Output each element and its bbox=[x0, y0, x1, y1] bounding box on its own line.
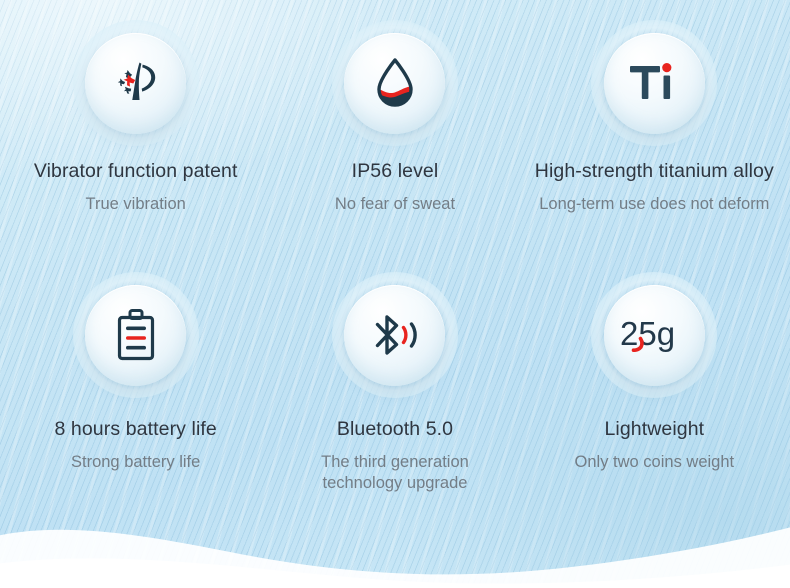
feature-card-ip56-level[interactable]: IP56 level No fear of sweat bbox=[265, 18, 524, 270]
feature-card-bluetooth[interactable]: Bluetooth 5.0 The third generation techn… bbox=[265, 270, 524, 588]
bluetooth-icon bbox=[365, 307, 425, 363]
feature-card-titanium-alloy[interactable]: High-strength titanium alloy Long-term u… bbox=[525, 18, 784, 270]
svg-text:25g: 25g bbox=[620, 315, 675, 352]
badge-wrapper bbox=[71, 270, 201, 400]
feature-title: High-strength titanium alloy bbox=[535, 160, 774, 183]
feature-card-battery-life[interactable]: 8 hours battery life Strong battery life bbox=[6, 270, 265, 588]
badge-circle bbox=[85, 33, 186, 134]
badge-circle: 25g bbox=[604, 285, 705, 386]
water-drop-icon bbox=[371, 55, 419, 111]
feature-card-lightweight[interactable]: 25g Lightweight Only two coins weight bbox=[525, 270, 784, 588]
feature-subtitle: Long-term use does not deform bbox=[539, 194, 769, 215]
badge-wrapper bbox=[71, 18, 201, 148]
feature-title: IP56 level bbox=[352, 160, 439, 183]
battery-icon bbox=[113, 307, 159, 363]
feature-title: Bluetooth 5.0 bbox=[337, 418, 453, 441]
feature-title: Lightweight bbox=[604, 418, 704, 441]
feature-subtitle: True vibration bbox=[86, 194, 186, 215]
badge-circle bbox=[344, 33, 445, 134]
badge-wrapper bbox=[589, 18, 719, 148]
feature-subtitle: The third generation technology upgrade bbox=[321, 452, 469, 495]
weight-25g-icon: 25g bbox=[617, 312, 691, 358]
feature-subtitle: Only two coins weight bbox=[575, 452, 735, 473]
feature-subtitle: Strong battery life bbox=[71, 452, 200, 473]
feature-subtitle: No fear of sweat bbox=[335, 194, 455, 215]
features-grid: Vibrator function patent True vibration bbox=[0, 0, 790, 588]
feature-card-vibrator-patent[interactable]: Vibrator function patent True vibration bbox=[6, 18, 265, 270]
badge-wrapper bbox=[330, 270, 460, 400]
feature-grid-page: Vibrator function patent True vibration bbox=[0, 0, 790, 588]
titanium-ti-icon bbox=[625, 56, 683, 110]
patent-logo-icon bbox=[108, 55, 164, 111]
feature-title: Vibrator function patent bbox=[34, 160, 238, 183]
feature-title: 8 hours battery life bbox=[54, 418, 216, 441]
badge-circle bbox=[344, 285, 445, 386]
badge-wrapper: 25g bbox=[589, 270, 719, 400]
badge-wrapper bbox=[330, 18, 460, 148]
badge-circle bbox=[604, 33, 705, 134]
badge-circle bbox=[85, 285, 186, 386]
